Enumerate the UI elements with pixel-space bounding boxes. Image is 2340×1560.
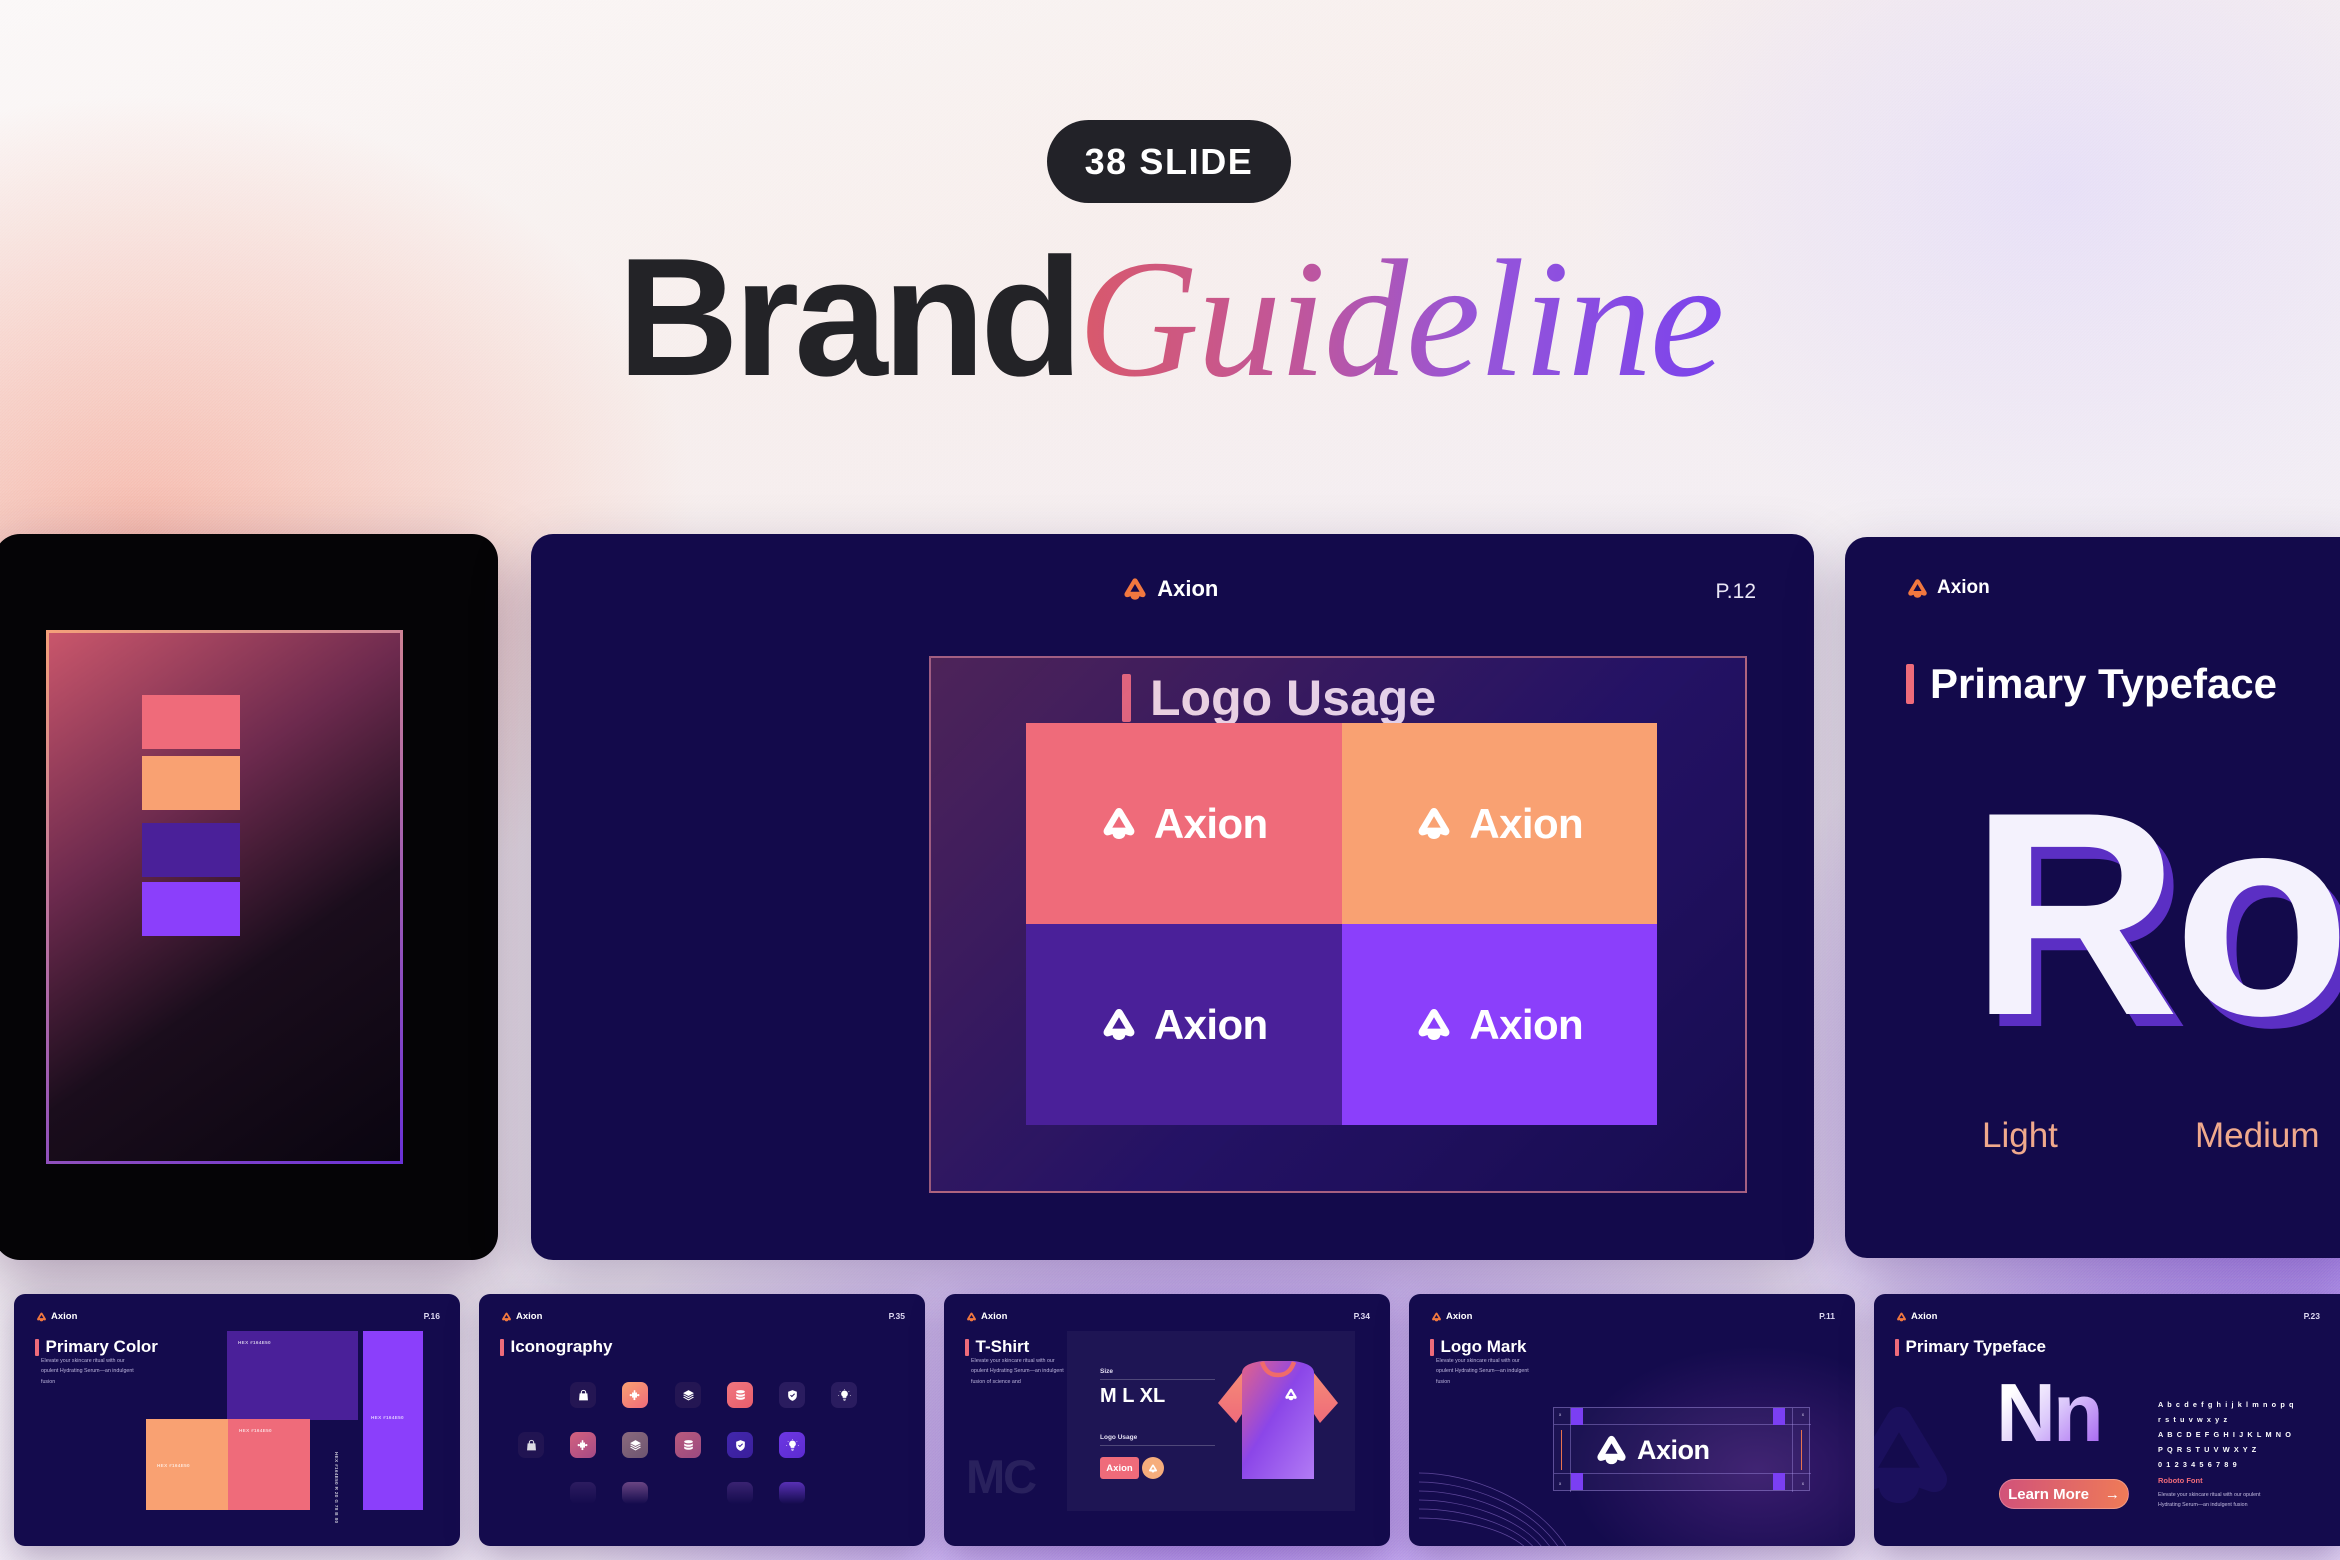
grid-label-x: x [1802, 1481, 1804, 1486]
grid-marker [1571, 1473, 1583, 1490]
shield-check-icon [786, 1389, 799, 1402]
axion-triangle-logo-icon [1415, 1007, 1453, 1042]
icon-tile-shield-check[interactable] [727, 1432, 753, 1458]
icon-tile-reflection [779, 1482, 805, 1504]
icon-tile-layers[interactable] [622, 1432, 648, 1458]
slide-brand-label: Axion [1446, 1311, 1472, 1322]
axion-triangle-logo-icon [1148, 1464, 1158, 1473]
grid-label-x: x [1559, 1481, 1561, 1486]
slide-title-label: Iconography [511, 1337, 613, 1357]
typeface-specimen: Nn [1996, 1374, 2101, 1453]
thumbnail-primary-color[interactable]: Axion P.16 Primary Color Elevate your sk… [14, 1294, 460, 1546]
slide-page-number: P.12 [1716, 580, 1757, 604]
slide-title: Logo Mark [1430, 1337, 1526, 1357]
logo-grid-cell[interactable]: Axion [1026, 723, 1342, 924]
title-accent-bar [1895, 1339, 1899, 1356]
hero-title-italic: Guideline [1078, 226, 1722, 412]
wordmark: Axion [1637, 1435, 1710, 1466]
device-mockup [0, 534, 498, 1260]
hex-label: HEX #164E50 [157, 1463, 190, 1468]
puzzle-icon [577, 1439, 590, 1452]
color-swatch [142, 823, 240, 877]
slide-page-number: P.16 [424, 1311, 440, 1321]
watermark: MC [966, 1449, 1035, 1504]
axion-triangle-logo-icon [1431, 1312, 1442, 1322]
font-note: Elevate your skincare ritual with our op… [2158, 1490, 2276, 1511]
title-accent-bar [1430, 1339, 1434, 1356]
title-accent-bar [965, 1339, 969, 1356]
color-block-coral: HEX #164E50 [228, 1419, 310, 1510]
axion-triangle-logo-icon [1284, 1388, 1298, 1401]
color-swatch [142, 695, 240, 749]
tshirt-illustration [1212, 1351, 1344, 1493]
slide-brand-header: Axion [966, 1311, 1007, 1322]
logo-usage-field-label: Logo Usage [1100, 1434, 1137, 1441]
icon-tile-bag[interactable] [570, 1382, 596, 1408]
logo-chip-button[interactable]: Axion [1100, 1457, 1139, 1479]
icon-tile-reflection [622, 1482, 648, 1504]
title-accent-bar [500, 1339, 504, 1356]
color-swatch [142, 882, 240, 936]
slide-title: T-Shirt [965, 1337, 1029, 1357]
device-screen [46, 630, 403, 1164]
axion-triangle-logo-icon [1122, 577, 1148, 601]
typeface-specimen: Ro [1970, 748, 2340, 1081]
lightbulb-icon [786, 1439, 799, 1452]
thumbnail-tshirt[interactable]: Axion P.34 T-Shirt Elevate your skincare… [944, 1294, 1390, 1546]
size-options[interactable]: M L XL [1100, 1385, 1165, 1408]
poster-stage: 38 SLIDE BrandGuideline Axion P.12 Logo … [0, 0, 2340, 1560]
grid-col-left [1554, 1408, 1571, 1492]
slide-brand-label: Axion [1157, 576, 1218, 602]
slide-brand-label: Axion [981, 1311, 1007, 1322]
logo-grid-cell[interactable]: Axion [1026, 924, 1342, 1125]
axion-triangle-logo-icon [1906, 578, 1929, 599]
slide-title-label: Logo Mark [1441, 1337, 1527, 1357]
axion-triangle-logo-icon [1896, 1312, 1907, 1322]
slide-title-label: T-Shirt [976, 1337, 1030, 1357]
page-title: BrandGuideline [0, 232, 2340, 405]
hex-label: HEX #164E50 [371, 1415, 404, 1420]
slide-brand-header: Axion [1906, 577, 1990, 599]
measure-line [1561, 1430, 1562, 1470]
database-icon [682, 1439, 695, 1452]
logo-mark-grid: x x x x Axion [1553, 1407, 1810, 1491]
grid-label-x: x [1802, 1412, 1804, 1417]
puzzle-icon [629, 1389, 642, 1402]
slide-brand-header: Axion [1431, 1311, 1472, 1322]
slide-subtitle: Elevate your skincare ritual with our op… [41, 1356, 137, 1387]
thumbnail-logo-mark[interactable]: Axion P.11 Logo Mark Elevate your skinca… [1409, 1294, 1855, 1546]
slide-brand-label: Axion [1911, 1311, 1937, 1322]
logo-chip-icon-button[interactable] [1142, 1457, 1164, 1479]
slide-title-label: Primary Color [46, 1337, 158, 1357]
divider [1100, 1379, 1215, 1380]
hex-label: HEX #164E50 [238, 1340, 271, 1345]
slide-brand-label: Axion [1937, 577, 1990, 599]
slide-title-label: Primary Typeface [1906, 1337, 2046, 1357]
hex-label: HEX #164E50 [239, 1428, 272, 1433]
alphabet-line: A B C D E F G H I J K L M N O [2158, 1428, 2295, 1443]
tshirt-panel: Size M L XL Logo Usage Axion [1067, 1331, 1355, 1511]
color-swatch [142, 756, 240, 810]
icon-tile-database[interactable] [727, 1382, 753, 1408]
learn-more-label: Learn More [2008, 1486, 2089, 1503]
grid-marker [1773, 1473, 1785, 1490]
icon-tile-reflection [570, 1482, 596, 1504]
learn-more-button[interactable]: Learn More → [1999, 1479, 2129, 1509]
hex-label-vertical: HEX #164E50 R 20 G 78 B 80 [334, 1452, 339, 1523]
icon-tile-layers[interactable] [675, 1382, 701, 1408]
grid-marker [1773, 1408, 1785, 1425]
logo-grid-cell[interactable]: Axion [1342, 924, 1658, 1125]
bag-icon [577, 1389, 590, 1402]
bag-icon [525, 1439, 538, 1452]
slide-brand-header: Axion [501, 1311, 542, 1322]
slide-subtitle: Elevate your skincare ritual with our op… [1436, 1356, 1532, 1387]
icon-tile-puzzle[interactable] [570, 1432, 596, 1458]
slide-brand-header: Axion [1122, 576, 1218, 602]
slide-title: Iconography [500, 1337, 613, 1357]
alphabet-line: A b c d e f g h i j k l m n o p q [2158, 1398, 2295, 1413]
icon-tile-shield-check[interactable] [779, 1382, 805, 1408]
icon-tile-lightbulb[interactable] [831, 1382, 857, 1408]
slide-page-number: P.35 [889, 1311, 905, 1321]
slide-brand-header: Axion [36, 1311, 77, 1322]
axion-triangle-logo-icon [966, 1312, 977, 1322]
thumbnail-primary-typeface[interactable]: Axion P.23 Primary Typeface Nn Learn Mor… [1874, 1294, 2340, 1546]
logo-usage-grid: Axion Axion Axion Axion [1026, 723, 1657, 1125]
axion-triangle-watermark-icon [1874, 1376, 1958, 1534]
slide-count-badge: 38 SLIDE [1047, 120, 1291, 203]
typeface-weight-light: Light [1982, 1116, 2058, 1156]
color-block-deep-purple: HEX #164E50 [227, 1331, 358, 1420]
axion-triangle-logo-icon [501, 1312, 512, 1322]
axion-triangle-logo-icon [1100, 1007, 1138, 1042]
slide-title: Primary Typeface [1895, 1337, 2046, 1357]
slide-page-number: P.11 [1819, 1311, 1835, 1321]
typeface-weight-medium: Medium [2195, 1116, 2319, 1156]
alphabet-line: r s t u v w x y z [2158, 1413, 2295, 1428]
title-accent-bar [1906, 664, 1914, 704]
layers-icon [682, 1389, 695, 1402]
logo-grid-cell-label: Axion [1154, 800, 1268, 848]
logo-grid-cell-label: Axion [1154, 1001, 1268, 1049]
alphabet-specimen: A b c d e f g h i j k l m n o p q r s t … [2158, 1398, 2295, 1473]
logo-lockup: Axion [1594, 1425, 1774, 1475]
alphabet-line: P Q R S T U V W X Y Z [2158, 1443, 2295, 1458]
icon-tile-puzzle[interactable] [622, 1382, 648, 1408]
slide-brand-label: Axion [516, 1311, 542, 1322]
logo-grid-cell-label: Axion [1469, 800, 1583, 848]
color-block-violet: HEX #164E50 [363, 1331, 423, 1510]
axion-triangle-logo-icon [36, 1312, 47, 1322]
slide-brand-header: Axion [1896, 1311, 1937, 1322]
arrow-right-icon: → [2105, 1486, 2120, 1503]
divider [1100, 1445, 1215, 1446]
shield-check-icon [734, 1439, 747, 1452]
database-icon [734, 1389, 747, 1402]
grid-marker [1571, 1408, 1583, 1425]
hero-title-bold: Brand [618, 223, 1078, 411]
slide-subtitle: Elevate your skincare ritual with our op… [971, 1356, 1067, 1387]
alphabet-line: 0 1 2 3 4 5 6 7 8 9 [2158, 1458, 2295, 1473]
font-name-label: Roboto Font [2158, 1476, 2203, 1485]
slide-count-label: 38 SLIDE [1085, 141, 1254, 183]
icon-tile-bag[interactable] [518, 1432, 544, 1458]
slide-title: Primary Color [35, 1337, 158, 1357]
grid-label-x: x [1559, 1412, 1561, 1417]
icon-tile-lightbulb[interactable] [779, 1432, 805, 1458]
logo-grid-cell-label: Axion [1469, 1001, 1583, 1049]
layers-icon [629, 1439, 642, 1452]
lightbulb-icon [838, 1389, 851, 1402]
logo-grid-cell[interactable]: Axion [1342, 723, 1658, 924]
measure-line [1801, 1430, 1802, 1470]
color-block-orange: HEX #164E50 [146, 1419, 228, 1510]
title-accent-bar [35, 1339, 39, 1356]
axion-triangle-logo-icon [1415, 806, 1453, 841]
slide-page-number: P.23 [2304, 1311, 2320, 1321]
slide-title-label: Primary Typeface [1930, 660, 2277, 708]
thumbnail-iconography[interactable]: Axion P.35 Iconography [479, 1294, 925, 1546]
axion-triangle-logo-icon [1100, 806, 1138, 841]
icon-tile-database[interactable] [675, 1432, 701, 1458]
slide-title: Primary Typeface [1906, 660, 2277, 708]
slide-page-number: P.34 [1354, 1311, 1370, 1321]
slide-brand-label: Axion [51, 1311, 77, 1322]
axion-triangle-logo-icon [1594, 1434, 1629, 1466]
icon-tile-reflection [727, 1482, 753, 1504]
size-field-label: Size [1100, 1368, 1113, 1375]
